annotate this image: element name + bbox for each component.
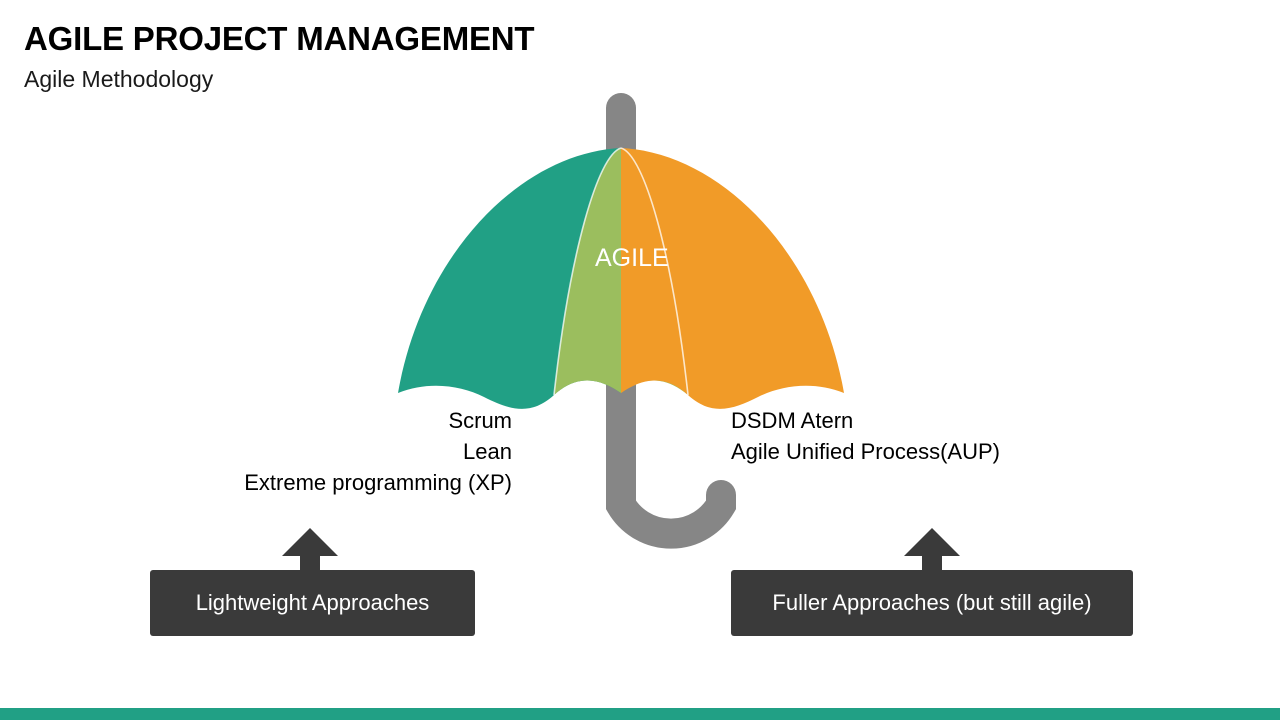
umbrella-handle xyxy=(621,415,721,534)
callout-lightweight-label: Lightweight Approaches xyxy=(196,590,430,616)
up-arrow-icon xyxy=(282,528,338,572)
callout-fuller: Fuller Approaches (but still agile) xyxy=(731,528,1133,636)
callout-lightweight: Lightweight Approaches xyxy=(150,528,475,636)
label-extreme-programming: Extreme programming (XP) xyxy=(244,467,512,498)
umbrella-diagram xyxy=(380,85,880,585)
label-dsdm-atern: DSDM Atern xyxy=(731,405,1000,436)
label-agile-unified-process: Agile Unified Process(AUP) xyxy=(731,436,1000,467)
slide-canvas: AGILE PROJECT MANAGEMENT Agile Methodolo… xyxy=(0,0,1280,720)
callout-lightweight-box: Lightweight Approaches xyxy=(150,570,475,636)
umbrella-right-panel xyxy=(621,148,844,409)
page-title: AGILE PROJECT MANAGEMENT xyxy=(24,20,534,58)
label-lean: Lean xyxy=(244,436,512,467)
lightweight-approaches-labels: Scrum Lean Extreme programming (XP) xyxy=(244,405,512,498)
footer-accent-bar xyxy=(0,708,1280,720)
up-arrow-icon xyxy=(904,528,960,572)
fuller-approaches-labels: DSDM Atern Agile Unified Process(AUP) xyxy=(731,405,1000,467)
label-scrum: Scrum xyxy=(244,405,512,436)
callout-fuller-box: Fuller Approaches (but still agile) xyxy=(731,570,1133,636)
page-subtitle: Agile Methodology xyxy=(24,66,213,93)
callout-fuller-label: Fuller Approaches (but still agile) xyxy=(772,590,1091,616)
